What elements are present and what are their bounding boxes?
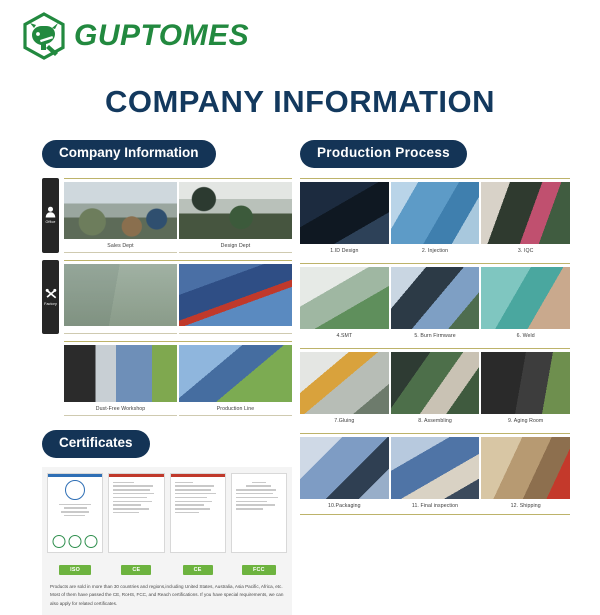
- production-row: 7.Gluing 8. Assembling 9. Aging Room: [300, 348, 570, 427]
- side-tab-label: Office: [46, 220, 56, 224]
- photo-caption: [64, 328, 177, 334]
- certificates-panel: ISO CE CE FCC Products are sold in more …: [42, 467, 292, 615]
- section-heading-company-information: Company Information: [42, 140, 216, 168]
- certificate-label: FCC: [231, 558, 287, 576]
- tools-icon: [45, 288, 57, 300]
- production-caption: 12. Shipping: [481, 501, 570, 512]
- certificate-label: CE: [170, 558, 226, 576]
- final-inspection-photo: [391, 437, 480, 499]
- certificates-note: Products are sold in more than 30 countr…: [47, 583, 287, 608]
- side-tab-label: Factory: [44, 302, 57, 306]
- assembly-line-photo: [179, 264, 292, 326]
- smt-photo: [300, 267, 389, 329]
- weld-photo: [481, 267, 570, 329]
- factory-building-photo: [64, 264, 177, 326]
- certificate-label-text: FCC: [242, 565, 276, 575]
- production-caption: 9. Aging Room: [481, 416, 570, 427]
- certificate-label-text: ISO: [59, 565, 91, 575]
- photo-card: Dust-Free Workshop Production Line: [64, 341, 292, 416]
- photo-caption: Sales Dept: [64, 241, 177, 253]
- assembling-photo: [391, 352, 480, 414]
- company-information-gallery: Office Sales Dept Design Dept: [42, 178, 292, 416]
- photo-card: [64, 260, 292, 334]
- id-design-photo: [300, 182, 389, 244]
- production-caption: 3. IQC: [481, 246, 570, 257]
- production-row: 1.ID Design 2. Injection 3. IQC: [300, 178, 570, 257]
- left-column: Company Information Office Sales Dept De…: [42, 140, 292, 615]
- photo-card: Sales Dept Design Dept: [64, 178, 292, 253]
- company-info-row: Dust-Free Workshop Production Line: [42, 341, 292, 416]
- certificates-section: Certificates: [42, 430, 292, 615]
- page-title: COMPANY INFORMATION: [0, 84, 600, 120]
- production-row: 4.SMT 5. Burn Firmware 6. Weld: [300, 263, 570, 342]
- certificate-label-text: CE: [121, 565, 151, 575]
- shipping-photo: [481, 437, 570, 499]
- certificate-label-text: CE: [183, 565, 213, 575]
- injection-photo: [391, 182, 480, 244]
- dust-free-workshop-photo: [64, 345, 177, 402]
- side-tab-office[interactable]: Office: [42, 178, 59, 253]
- certificate-label: CE: [108, 558, 164, 576]
- packaging-photo: [300, 437, 389, 499]
- design-department-photo: [179, 182, 292, 239]
- production-process-gallery: 1.ID Design 2. Injection 3. IQC 4.SMT 5.…: [300, 178, 570, 515]
- ce-certificate-image[interactable]: [108, 473, 164, 553]
- production-caption: 1.ID Design: [300, 246, 389, 257]
- company-info-row: Factory: [42, 260, 292, 334]
- person-icon: [45, 206, 56, 218]
- sales-department-photo: [64, 182, 177, 239]
- ce-certificate-image-2[interactable]: [170, 473, 226, 553]
- fcc-certificate-image[interactable]: [231, 473, 287, 553]
- side-tab-spacer: [42, 341, 59, 416]
- photo-caption: Design Dept: [179, 241, 292, 253]
- production-caption: 10.Packaging: [300, 501, 389, 512]
- production-caption: 8. Assembling: [391, 416, 480, 427]
- production-line-photo: [179, 345, 292, 402]
- hexagon-bull-head-icon: [22, 12, 66, 60]
- photo-caption: [179, 328, 292, 334]
- production-row: 10.Packaging 11. Final inspection 12. Sh…: [300, 433, 570, 515]
- company-info-row: Office Sales Dept Design Dept: [42, 178, 292, 253]
- certificate-label: ISO: [47, 558, 103, 576]
- iso-certificate-image[interactable]: [47, 473, 103, 553]
- aging-room-photo: [481, 352, 570, 414]
- production-caption: 4.SMT: [300, 331, 389, 342]
- section-heading-production-process: Production Process: [300, 140, 467, 168]
- production-caption: 2. Injection: [391, 246, 480, 257]
- iqc-photo: [481, 182, 570, 244]
- gluing-photo: [300, 352, 389, 414]
- production-caption: 5. Burn Firmware: [391, 331, 480, 342]
- photo-caption: Dust-Free Workshop: [64, 404, 177, 416]
- section-heading-certificates: Certificates: [42, 430, 150, 458]
- production-caption: 6. Weld: [481, 331, 570, 342]
- side-tab-factory[interactable]: Factory: [42, 260, 59, 334]
- production-caption: 7.Gluing: [300, 416, 389, 427]
- brand-name: GUPTOMES: [74, 19, 249, 53]
- right-column: Production Process 1.ID Design 2. Inject…: [300, 140, 570, 521]
- brand-logo-bar[interactable]: GUPTOMES: [22, 12, 249, 60]
- photo-caption: Production Line: [179, 404, 292, 416]
- burn-firmware-photo: [391, 267, 480, 329]
- production-caption: 11. Final inspection: [391, 501, 480, 512]
